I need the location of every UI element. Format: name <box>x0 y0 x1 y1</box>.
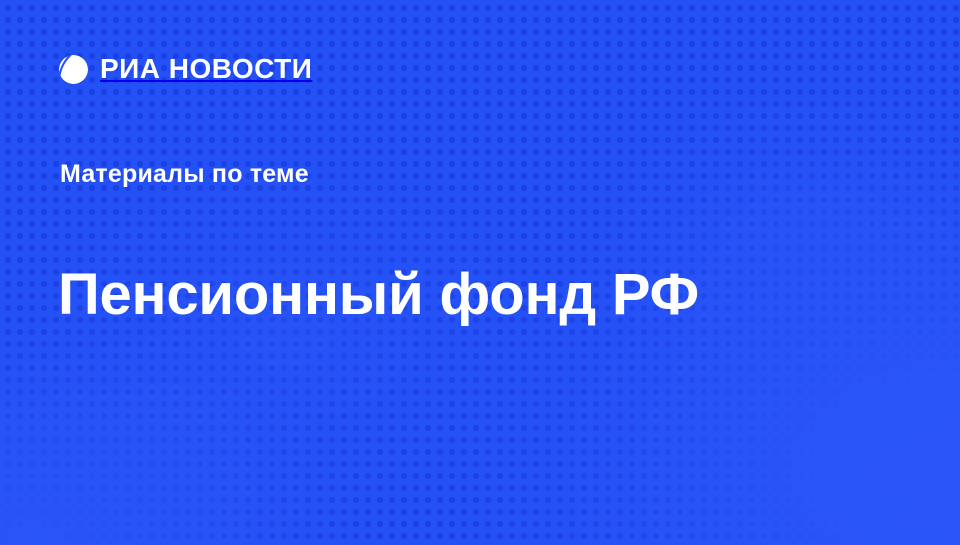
page-title: Пенсионный фонд РФ <box>58 263 699 328</box>
brand-logo-link[interactable]: РИА НОВОСТИ <box>58 50 312 88</box>
news-topic-card: РИА НОВОСТИ Материалы по теме Пенсионный… <box>0 0 960 545</box>
ria-sphere-logo-icon <box>58 54 89 85</box>
section-kicker: Материалы по теме <box>60 161 309 189</box>
brand-wordmark: РИА НОВОСТИ <box>100 55 312 83</box>
